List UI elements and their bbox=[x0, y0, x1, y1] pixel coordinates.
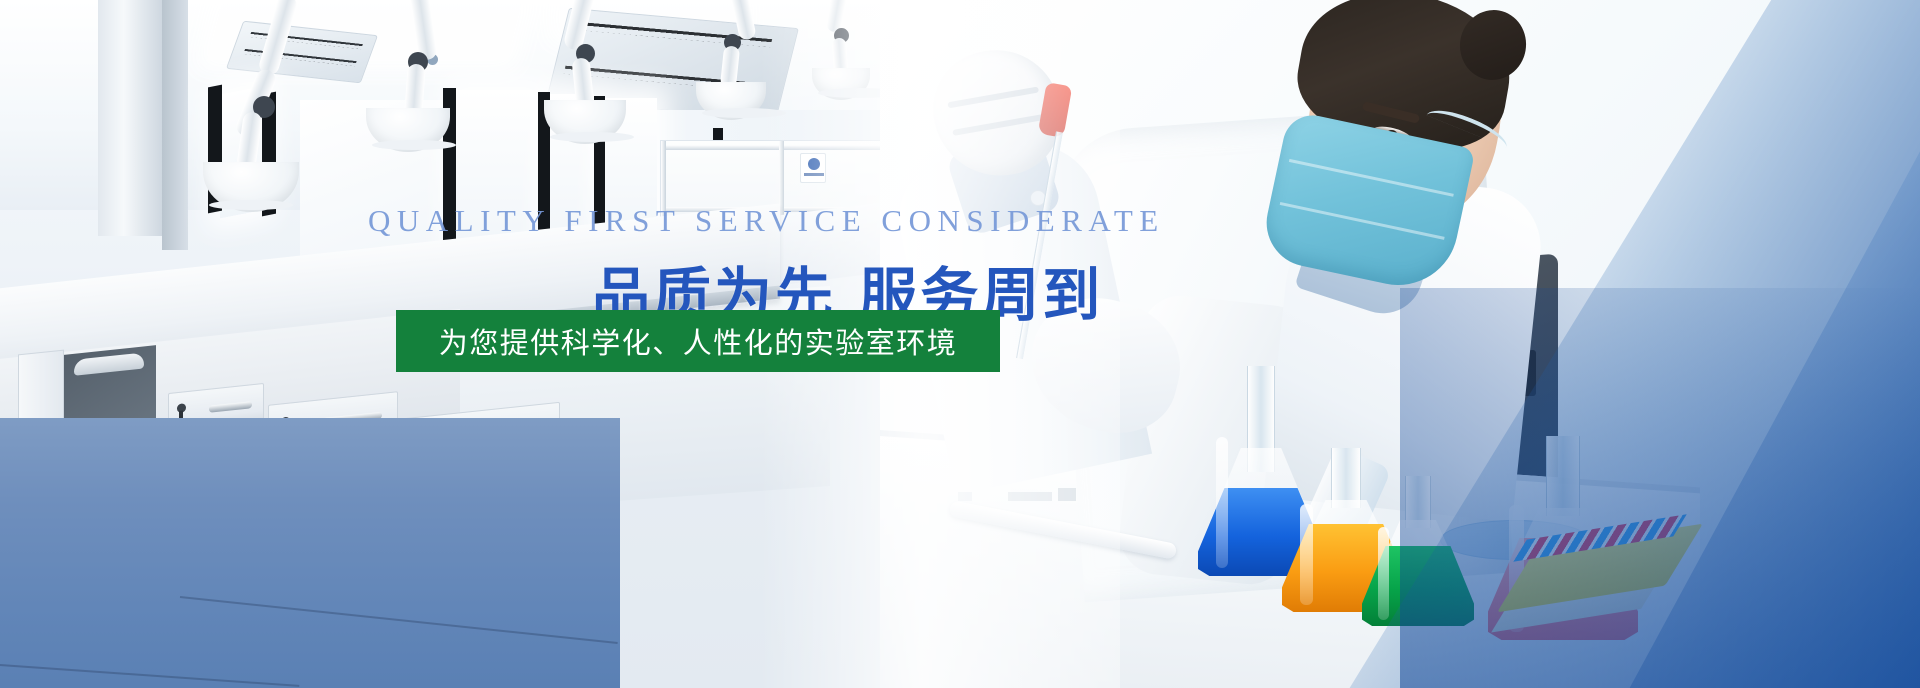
subtitle-green-bar: 为您提供科学化、人性化的实验室环境 bbox=[396, 310, 1000, 372]
banner-copy: QUALITY FIRST SERVICE CONSIDERATE 品质为先 服… bbox=[0, 0, 1920, 688]
hero-banner: QUALITY FIRST SERVICE CONSIDERATE 品质为先 服… bbox=[0, 0, 1920, 688]
english-tagline: QUALITY FIRST SERVICE CONSIDERATE bbox=[368, 203, 1165, 239]
subtitle-chinese: 为您提供科学化、人性化的实验室环境 bbox=[439, 320, 958, 362]
